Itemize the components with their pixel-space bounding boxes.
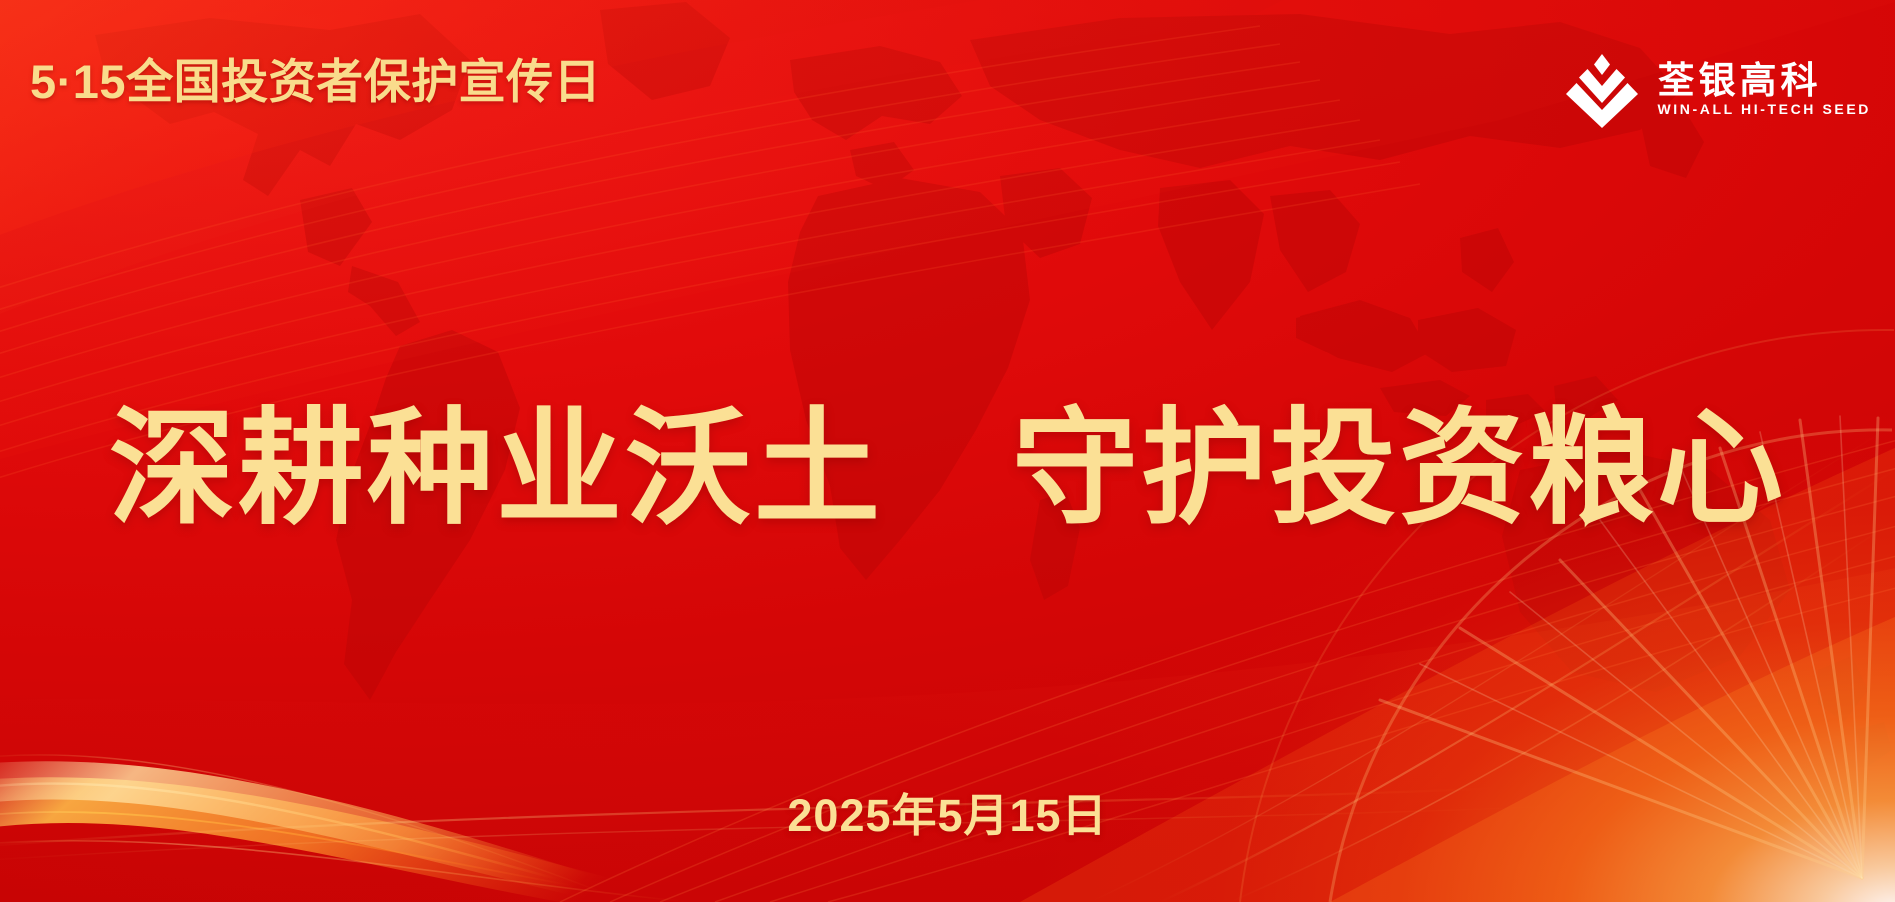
logo-name-chinese: 荃银高科 [1657,62,1871,100]
banner-content: 5·15全国投资者保护宣传日 荃银高科 WIN-ALL HI-TECH SEED… [0,0,1895,902]
logo-text-block: 荃银高科 WIN-ALL HI-TECH SEED [1657,62,1871,116]
banner-main-title: 深耕种业沃土 守护投资粮心 [0,398,1895,539]
company-logo: 荃银高科 WIN-ALL HI-TECH SEED [1565,50,1871,128]
campaign-kicker-text: 5·15全国投资者保护宣传日 [30,58,601,105]
investor-protection-banner: 5·15全国投资者保护宣传日 荃银高科 WIN-ALL HI-TECH SEED… [0,0,1895,902]
logo-name-english: WIN-ALL HI-TECH SEED [1657,102,1871,116]
banner-event-date: 2025年5月15日 [0,793,1895,838]
chevron-diamond-logo-icon [1565,50,1639,128]
